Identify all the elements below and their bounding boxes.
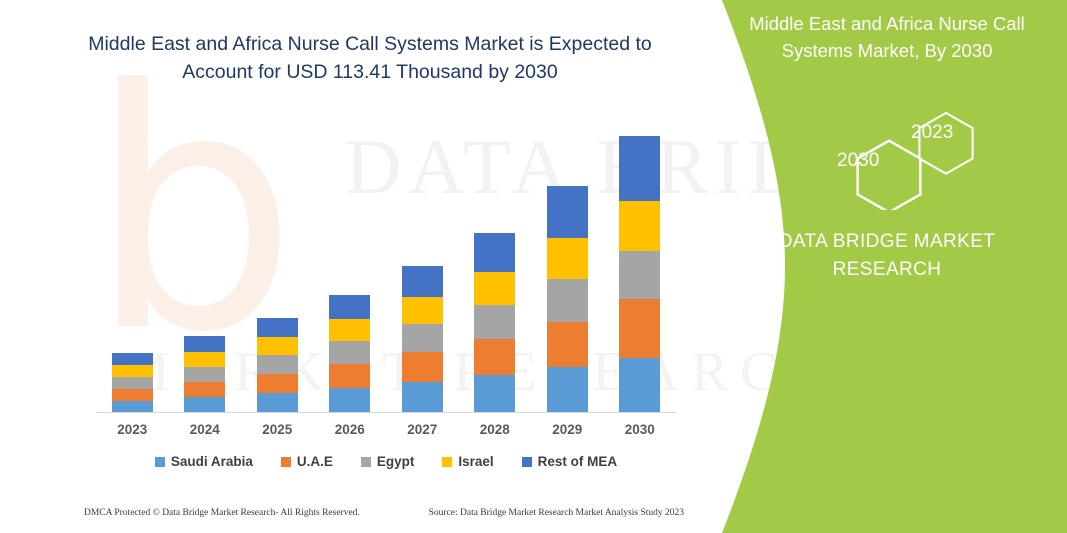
bar-segment[interactable]	[329, 364, 370, 388]
stacked-bar[interactable]	[184, 336, 225, 413]
legend-item[interactable]: Saudi Arabia	[155, 454, 253, 469]
bar-segment[interactable]	[257, 374, 298, 393]
stacked-bar[interactable]	[112, 353, 153, 413]
chart-infographic: b DATA BRIDGE MARKET RESEARCH Middle Eas…	[0, 0, 1067, 533]
bar-segment[interactable]	[184, 336, 225, 352]
bar-segment[interactable]	[402, 297, 443, 324]
bar-segment[interactable]	[547, 367, 588, 413]
footer-copyright: DMCA Protected © Data Bridge Market Rese…	[84, 508, 360, 518]
stacked-bar[interactable]	[547, 186, 588, 413]
legend-label: U.A.E	[297, 454, 333, 469]
bar-segment[interactable]	[547, 238, 588, 279]
bar-slot-2025	[241, 110, 314, 413]
footer: DMCA Protected © Data Bridge Market Rese…	[84, 508, 684, 518]
hexagon-2030-label: 2030	[837, 150, 879, 172]
bar-segment[interactable]	[257, 355, 298, 374]
chart-legend: Saudi ArabiaU.A.EEgyptIsraelRest of MEA	[96, 454, 676, 469]
bar-segment[interactable]	[112, 389, 153, 401]
x-axis-line	[96, 412, 676, 413]
bar-segment[interactable]	[474, 339, 515, 375]
x-axis-tick-2024: 2024	[169, 422, 242, 437]
bar-segment[interactable]	[112, 353, 153, 365]
stacked-bar[interactable]	[619, 136, 660, 413]
bar-segment[interactable]	[474, 375, 515, 413]
bar-slot-2026	[314, 110, 387, 413]
bar-segment[interactable]	[619, 201, 660, 251]
bar-segment[interactable]	[402, 382, 443, 413]
bar-segment[interactable]	[547, 186, 588, 238]
bar-segment[interactable]	[329, 295, 370, 319]
bar-segment[interactable]	[474, 305, 515, 339]
x-axis-tick-2026: 2026	[314, 422, 387, 437]
legend-swatch-icon	[522, 457, 532, 467]
bar-segment[interactable]	[257, 318, 298, 337]
stacked-bar[interactable]	[474, 233, 515, 413]
footer-source: Source: Data Bridge Market Research Mark…	[429, 508, 684, 518]
x-axis-tick-2025: 2025	[241, 422, 314, 437]
x-axis-tick-2023: 2023	[96, 422, 169, 437]
legend-item[interactable]: Israel	[442, 454, 493, 469]
stacked-bar[interactable]	[329, 295, 370, 413]
bar-segment[interactable]	[474, 233, 515, 272]
bar-segment[interactable]	[619, 251, 660, 299]
plot-area	[96, 110, 676, 413]
bar-slot-2028	[459, 110, 532, 413]
bar-segment[interactable]	[184, 382, 225, 397]
legend-item[interactable]: Rest of MEA	[522, 454, 618, 469]
bar-segment[interactable]	[184, 352, 225, 367]
legend-label: Egypt	[377, 454, 415, 469]
bar-segment[interactable]	[329, 319, 370, 341]
legend-swatch-icon	[155, 457, 165, 467]
x-axis-tick-2028: 2028	[459, 422, 532, 437]
bar-segment[interactable]	[619, 136, 660, 201]
bar-slot-2029	[531, 110, 604, 413]
bar-segment[interactable]	[329, 388, 370, 413]
x-axis-tick-2029: 2029	[531, 422, 604, 437]
bar-segment[interactable]	[619, 358, 660, 413]
legend-swatch-icon	[361, 457, 371, 467]
bar-segment[interactable]	[329, 341, 370, 364]
bar-group	[96, 110, 676, 413]
brand-panel-content: Middle East and Africa Nurse Call System…	[707, 0, 1067, 533]
bar-segment[interactable]	[402, 352, 443, 382]
panel-title: Middle East and Africa Nurse Call System…	[735, 10, 1039, 64]
bar-segment[interactable]	[257, 393, 298, 413]
bar-segment[interactable]	[184, 367, 225, 382]
hexagon-group: 2030 2023	[815, 100, 1015, 210]
x-axis-labels: 20232024202520262027202820292030	[96, 422, 676, 437]
bar-slot-2024	[169, 110, 242, 413]
bar-segment[interactable]	[474, 272, 515, 305]
legend-item[interactable]: Egypt	[361, 454, 415, 469]
brand-line-2: RESEARCH	[737, 256, 1037, 284]
brand-name: DATA BRIDGE MARKET RESEARCH	[737, 228, 1037, 284]
legend-item[interactable]: U.A.E	[281, 454, 333, 469]
bar-segment[interactable]	[112, 377, 153, 389]
bar-slot-2027	[386, 110, 459, 413]
bar-segment[interactable]	[402, 266, 443, 297]
bar-segment[interactable]	[619, 299, 660, 358]
bar-segment[interactable]	[184, 397, 225, 413]
hexagon-2023-label: 2023	[911, 122, 953, 144]
bar-slot-2030	[604, 110, 677, 413]
bar-slot-2023	[96, 110, 169, 413]
bar-segment[interactable]	[402, 324, 443, 352]
x-axis-tick-2030: 2030	[604, 422, 677, 437]
legend-swatch-icon	[281, 457, 291, 467]
legend-label: Rest of MEA	[538, 454, 618, 469]
bar-segment[interactable]	[257, 337, 298, 355]
legend-label: Saudi Arabia	[171, 454, 253, 469]
legend-swatch-icon	[442, 457, 452, 467]
chart-title: Middle East and Africa Nurse Call System…	[60, 30, 680, 86]
stacked-bar[interactable]	[402, 266, 443, 413]
stacked-bar[interactable]	[257, 318, 298, 413]
brand-line-1: DATA BRIDGE MARKET	[737, 228, 1037, 256]
legend-label: Israel	[458, 454, 493, 469]
bar-segment[interactable]	[112, 365, 153, 377]
x-axis-tick-2027: 2027	[386, 422, 459, 437]
bar-segment[interactable]	[547, 279, 588, 322]
bar-segment[interactable]	[547, 322, 588, 367]
